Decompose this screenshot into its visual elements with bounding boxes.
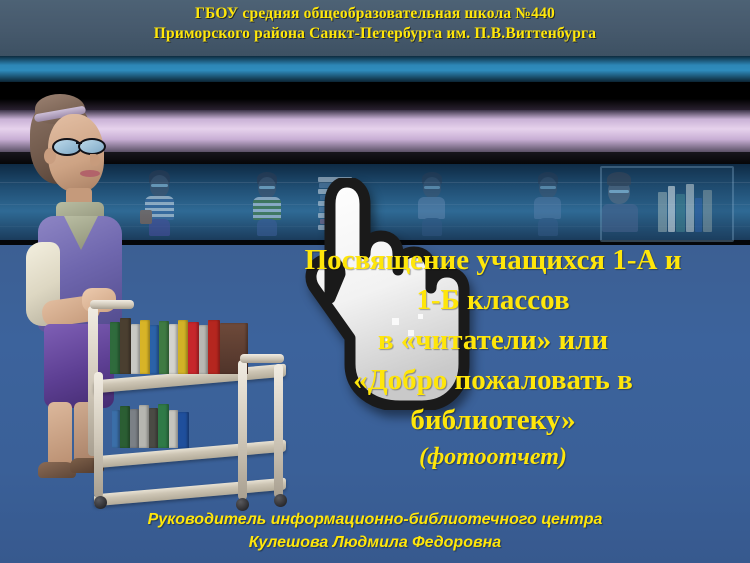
title-line-3: в «читатели» или bbox=[236, 320, 750, 360]
title-line-2: 1-Б классов bbox=[236, 280, 750, 320]
cart-wheel bbox=[274, 494, 287, 507]
title-line-1: Посвящение учащихся 1-А и bbox=[236, 240, 750, 280]
school-header-text: ГБОУ средняя общеобразовательная школа №… bbox=[0, 4, 750, 44]
cyan-stripe-band bbox=[0, 56, 750, 82]
slide-title: Посвящение учащихся 1-А и 1-Б классов в … bbox=[236, 240, 750, 474]
presentation-slide: ГБОУ средняя общеобразовательная школа №… bbox=[0, 0, 750, 563]
header-line-2: Приморского района Санкт-Петербурга им. … bbox=[0, 24, 750, 44]
header-line-1: ГБОУ средняя общеобразовательная школа №… bbox=[0, 4, 750, 24]
author-credit: Руководитель информационно-библиотечного… bbox=[0, 508, 750, 554]
background-figure-2 bbox=[248, 172, 286, 236]
footer-line-2: Кулешова Людмила Федоровна bbox=[0, 531, 750, 554]
background-bookshelf bbox=[600, 166, 730, 238]
title-line-5: библиотеку» bbox=[236, 400, 750, 440]
title-subtitle: (фотоотчет) bbox=[236, 440, 750, 474]
background-figure-4 bbox=[530, 172, 566, 236]
footer-line-1: Руководитель информационно-библиотечного… bbox=[0, 508, 750, 531]
title-line-4: «Добро пожаловать в bbox=[236, 360, 750, 400]
